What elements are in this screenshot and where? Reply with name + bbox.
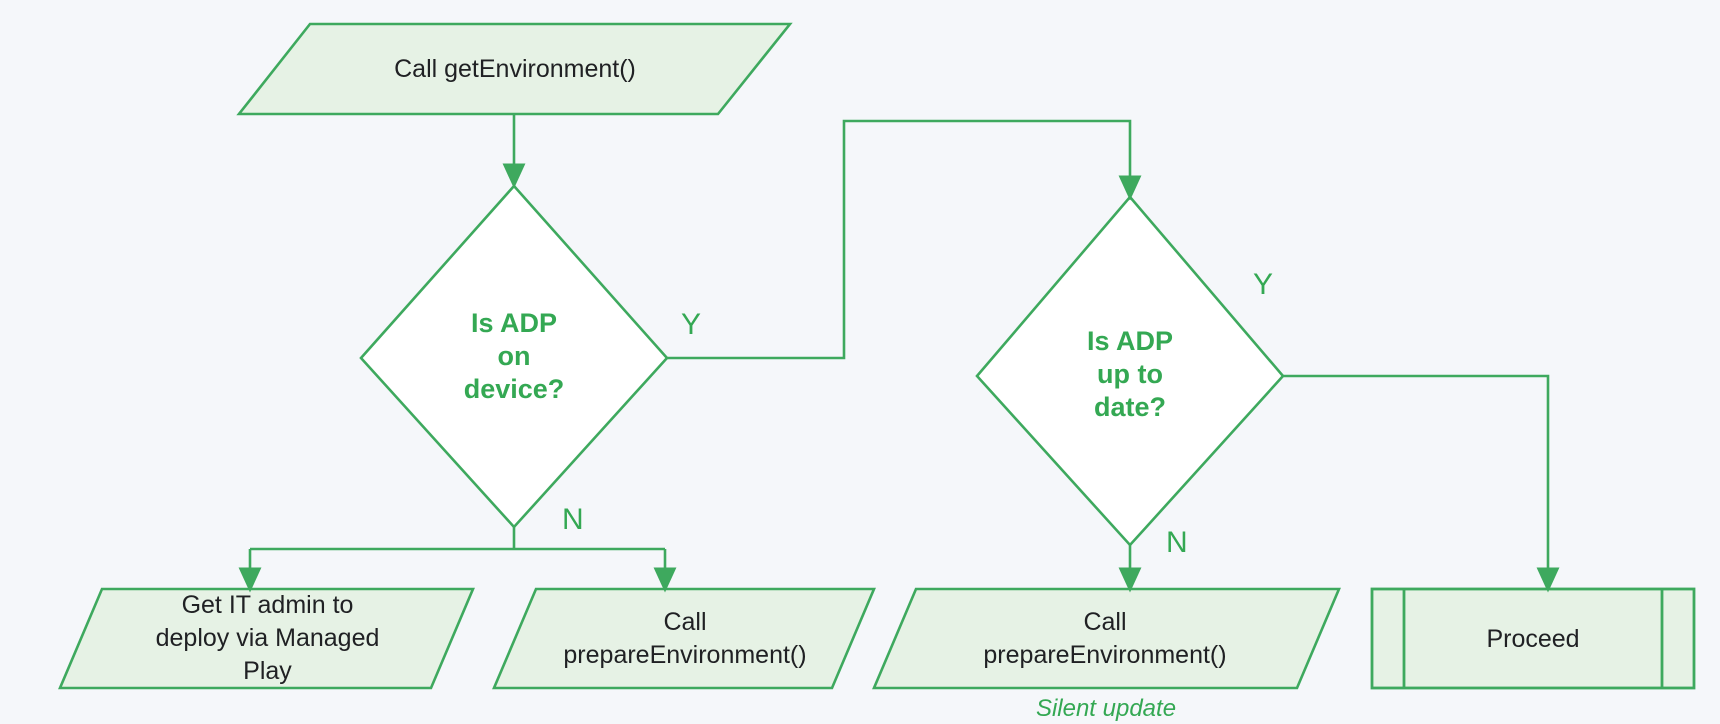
node-proceed-shape[interactable] xyxy=(1372,589,1694,688)
node-prepare-environment-left-shape[interactable] xyxy=(494,589,874,688)
flowchart-canvas: Call getEnvironment() Is ADP on device? … xyxy=(0,0,1720,724)
node-prepare-environment-right-shape[interactable] xyxy=(874,589,1339,688)
node-start-shape[interactable] xyxy=(239,24,790,114)
node-get-it-admin-shape[interactable] xyxy=(60,589,473,688)
flowchart-graphics xyxy=(0,0,1720,724)
node-decision-up-to-date-shape[interactable] xyxy=(977,197,1283,545)
node-decision-on-device-shape[interactable] xyxy=(361,186,667,527)
edge-up-to-date-yes xyxy=(1283,376,1548,580)
